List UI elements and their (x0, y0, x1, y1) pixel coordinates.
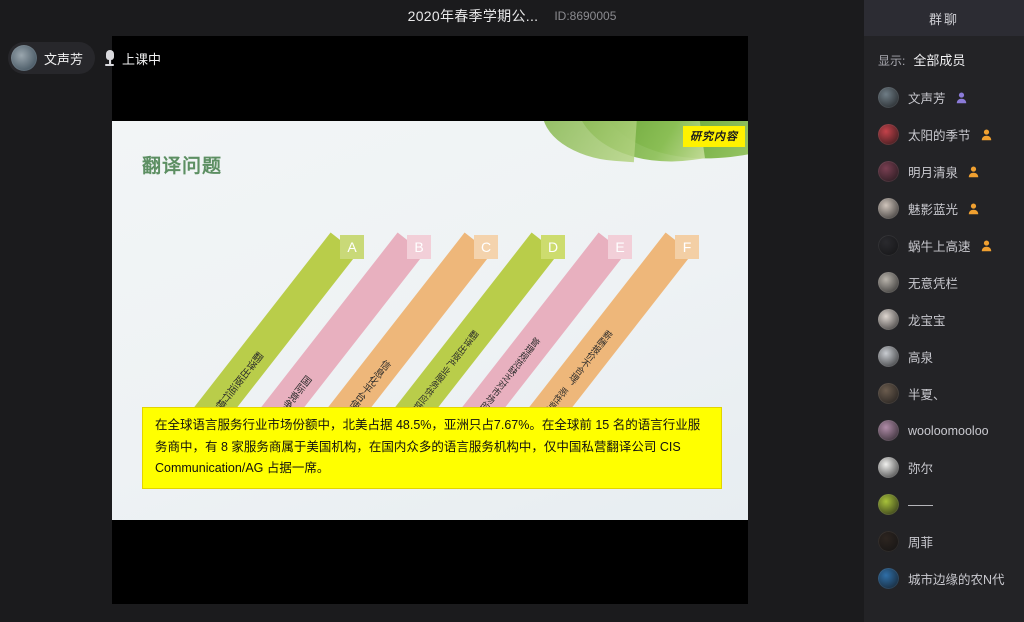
host-badge-icon (955, 91, 968, 104)
slide-callout-text: 在全球语言服务行业市场份额中，北美占据 48.5%，亚洲只占7.67%。在全球前… (142, 407, 722, 489)
member-name: 文声芳 (908, 88, 946, 107)
member-list-item[interactable]: 太阳的季节 (878, 116, 1024, 153)
presentation-slide: 研究内容 翻译问题 翻译出版运行模式问题A国际竞争力不足B信息化平台使用度低C翻… (112, 121, 748, 520)
presenter-avatar (11, 45, 37, 71)
right-sidebar: 群聊 显示: 全部成员 文声芳太阳的季节明月清泉魅影蓝光蜗牛上高速无意凭栏龙宝宝… (864, 0, 1024, 622)
member-list-item[interactable]: 文声芳 (878, 79, 1024, 116)
member-name: 城市边缘的农N代 (908, 569, 1005, 588)
member-name: 半夏、 (908, 384, 946, 403)
meeting-info: 2020年春季学期公... ID:8690005 (408, 6, 617, 26)
member-avatar (878, 124, 899, 145)
member-badge-icon (967, 202, 980, 215)
member-name: 蜗牛上高速 (908, 236, 971, 255)
member-name: 魅影蓝光 (908, 199, 958, 218)
presenter-status-bar: 文声芳 上课中 (8, 42, 161, 74)
member-filter-value[interactable]: 全部成员 (913, 50, 965, 69)
member-list-item[interactable]: wooloomooloo (878, 412, 1024, 449)
member-name: 太阳的季节 (908, 125, 971, 144)
class-status: 上课中 (103, 49, 161, 68)
bar-letter-e: E (608, 235, 632, 259)
member-name: 龙宝宝 (908, 310, 946, 329)
member-list-item[interactable]: 弥尔 (878, 449, 1024, 486)
bar-letter-c: C (474, 235, 498, 259)
member-avatar (878, 494, 899, 515)
member-avatar (878, 420, 899, 441)
member-filter[interactable]: 显示: 全部成员 (864, 36, 1024, 79)
presenter-pill[interactable]: 文声芳 (8, 42, 95, 74)
member-list-item[interactable]: 周菲 (878, 523, 1024, 560)
member-avatar (878, 87, 899, 108)
class-status-label: 上课中 (122, 49, 161, 68)
member-name: 明月清泉 (908, 162, 958, 181)
member-list-item[interactable]: 明月清泉 (878, 153, 1024, 190)
member-avatar (878, 272, 899, 293)
member-name: wooloomooloo (908, 424, 989, 438)
member-list-item[interactable]: 无意凭栏 (878, 264, 1024, 301)
microphone-icon (103, 50, 116, 67)
member-filter-label: 显示: (878, 52, 905, 69)
member-avatar (878, 161, 899, 182)
member-badge-icon (980, 239, 993, 252)
member-avatar (878, 346, 899, 367)
bar-letter-d: D (541, 235, 565, 259)
member-avatar (878, 457, 899, 478)
member-list-item[interactable]: 城市边缘的农N代 (878, 560, 1024, 597)
member-badge-icon (967, 165, 980, 178)
member-list[interactable]: 文声芳太阳的季节明月清泉魅影蓝光蜗牛上高速无意凭栏龙宝宝高泉半夏、wooloom… (864, 79, 1024, 597)
member-list-item[interactable]: 魅影蓝光 (878, 190, 1024, 227)
member-avatar (878, 383, 899, 404)
member-avatar (878, 309, 899, 330)
member-list-item[interactable]: —— (878, 486, 1024, 523)
section-tag: 研究内容 (683, 126, 745, 147)
member-name: 高泉 (908, 347, 933, 366)
tab-group-chat[interactable]: 群聊 (864, 0, 1024, 36)
member-avatar (878, 198, 899, 219)
member-list-item[interactable]: 高泉 (878, 338, 1024, 375)
member-avatar (878, 235, 899, 256)
member-name: 无意凭栏 (908, 273, 958, 292)
bar-letter-f: F (675, 235, 699, 259)
member-badge-icon (980, 128, 993, 141)
member-list-item[interactable]: 龙宝宝 (878, 301, 1024, 338)
member-name: 周菲 (908, 532, 933, 551)
member-name: 弥尔 (908, 458, 933, 477)
member-avatar (878, 531, 899, 552)
member-name: —— (908, 498, 933, 512)
bar-letter-b: B (407, 235, 431, 259)
bar-letter-a: A (340, 235, 364, 259)
meeting-id: ID:8690005 (554, 9, 616, 23)
member-list-item[interactable]: 蜗牛上高速 (878, 227, 1024, 264)
member-avatar (878, 568, 899, 589)
meeting-title: 2020年春季学期公... (408, 6, 539, 26)
member-list-item[interactable]: 半夏、 (878, 375, 1024, 412)
presenter-name: 文声芳 (44, 49, 83, 68)
video-stage[interactable]: 研究内容 翻译问题 翻译出版运行模式问题A国际竞争力不足B信息化平台使用度低C翻… (112, 36, 748, 604)
meeting-app: 2020年春季学期公... ID:8690005 主持 文声芳 上课中 研究内容… (0, 0, 1024, 622)
diagonal-bar-chart: 翻译出版运行模式问题A国际竞争力不足B信息化平台使用度低C翻译出版产业服务供应链… (112, 121, 748, 421)
